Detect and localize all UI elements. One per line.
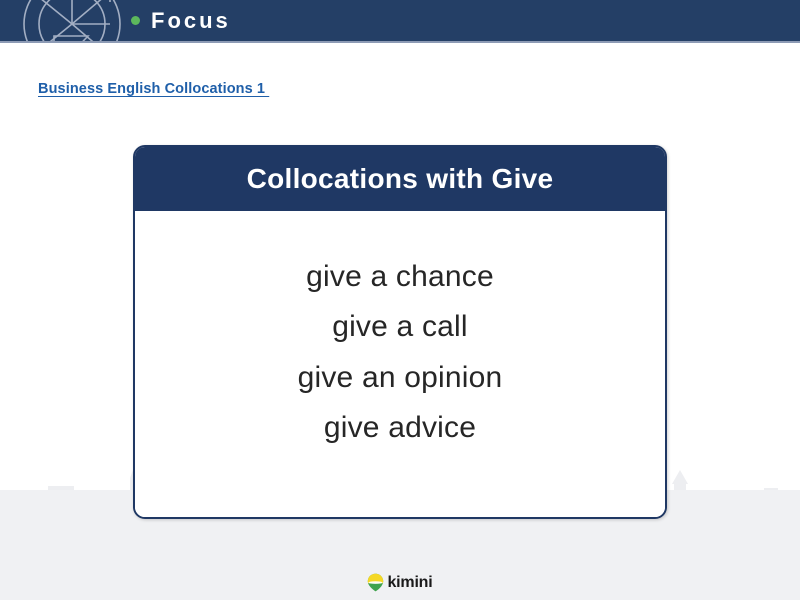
slide-canvas: Focus Business English Collocations 1 Co… bbox=[0, 0, 800, 600]
collocations-card: Collocations with Give give a chance giv… bbox=[133, 145, 667, 519]
footer-logo: kimini bbox=[0, 573, 800, 592]
kimini-logo-text: kimini bbox=[387, 575, 432, 591]
header-title-group: Focus bbox=[131, 0, 231, 41]
lesson-link[interactable]: Business English Collocations 1 bbox=[38, 81, 269, 97]
page-title: Focus bbox=[151, 10, 231, 32]
collocation-item: give an opinion bbox=[298, 353, 503, 403]
kimini-balloon-icon bbox=[367, 573, 384, 592]
header-divider bbox=[0, 41, 800, 43]
card-body: give a chance give a call give an opinio… bbox=[135, 211, 665, 519]
lesson-link-row: Business English Collocations 1 bbox=[38, 80, 269, 98]
collocation-item: give a chance bbox=[306, 252, 494, 302]
collocation-item: give a call bbox=[332, 302, 468, 352]
collocation-item: give advice bbox=[324, 403, 476, 453]
bullet-dot-icon bbox=[131, 16, 140, 25]
circular-monogram-outline-icon bbox=[10, 0, 150, 41]
slide-header: Focus bbox=[0, 0, 800, 41]
card-header: Collocations with Give bbox=[135, 147, 665, 211]
card-title: Collocations with Give bbox=[247, 165, 554, 193]
